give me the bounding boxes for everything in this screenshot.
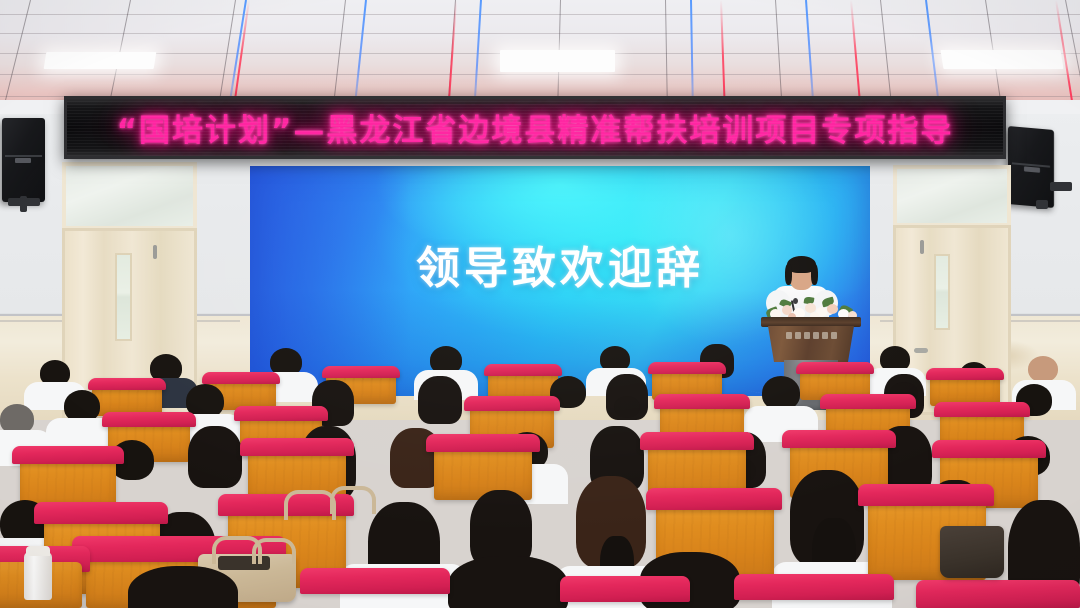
handbag — [940, 526, 1004, 578]
bag-handle — [284, 490, 336, 520]
led-banner-text: “国培计划”—黑龙江省边境县精准帮扶培训项目专项指导 — [117, 105, 954, 150]
seat-cushion — [202, 372, 280, 384]
ceiling-light-panel — [500, 50, 615, 72]
seat-cushion — [484, 364, 562, 376]
seat-cushion — [648, 362, 726, 374]
presenter-hair — [785, 264, 792, 285]
seat-cushion — [234, 406, 328, 421]
bag-handle — [252, 538, 296, 564]
door-right-transom — [893, 165, 1011, 227]
seat-cushion — [426, 434, 540, 452]
door-left-transom — [62, 162, 197, 230]
thermos-cap — [26, 546, 50, 556]
seat-cushion — [782, 430, 896, 448]
door-left-glass-panel — [115, 253, 132, 341]
seat-cushion — [240, 438, 354, 456]
seat-cushion — [796, 362, 874, 374]
wall-speaker-left — [2, 118, 45, 202]
door-left-handle[interactable] — [153, 245, 157, 259]
attendee-head — [1028, 356, 1058, 382]
seat-back — [434, 444, 532, 500]
seat-cushion — [322, 366, 400, 378]
presenter-hair — [811, 264, 818, 285]
seat-cushion — [88, 378, 166, 390]
ceiling-light-panel — [44, 52, 157, 69]
wall-speaker-right — [1008, 126, 1054, 208]
attendee-head-foreground — [448, 556, 568, 608]
audience-seating-area — [0, 340, 1080, 608]
seat-cushion — [820, 394, 916, 409]
seat-cushion — [464, 396, 560, 411]
seat-cushion-foreground — [300, 568, 450, 594]
seat-cushion-foreground — [916, 580, 1080, 608]
bag-handle — [330, 486, 376, 514]
door-right-glass-panel — [934, 254, 950, 330]
seat-cushion-foreground — [560, 576, 690, 602]
podium-emblem — [779, 330, 843, 340]
slide-title: 领导致欢迎辞 — [250, 232, 870, 296]
led-scrolling-banner: “国培计划”—黑龙江省边境县精准帮扶培训项目专项指导 — [64, 96, 1006, 159]
attendee-head — [418, 376, 462, 424]
seat-cushion — [646, 488, 782, 510]
ceiling-light-panel — [940, 50, 1063, 69]
attendee-head — [762, 376, 800, 410]
seat-cushion — [926, 368, 1004, 380]
seat-cushion — [858, 484, 994, 506]
thermos-cup — [24, 552, 52, 600]
podium-top-ledge — [761, 317, 861, 327]
speaker-bracket-right — [1050, 182, 1072, 191]
seat-cushion — [654, 394, 750, 409]
attendee-head — [188, 426, 242, 488]
door-right-handle[interactable] — [920, 240, 924, 254]
seat-cushion — [932, 440, 1046, 458]
speaker-bracket-right — [1036, 200, 1048, 209]
seat-cushion — [12, 446, 124, 464]
seat-cushion — [934, 402, 1030, 417]
seat-cushion-foreground — [734, 574, 894, 600]
seat-cushion — [102, 412, 196, 427]
attendee-head-foreground — [128, 566, 238, 608]
seat-cushion — [34, 502, 168, 524]
seat-cushion — [640, 432, 754, 450]
attendee-hair-bun — [614, 396, 640, 418]
speaker-bracket-left — [20, 196, 27, 212]
conference-hall-photo: 领导致欢迎辞 — [0, 0, 1080, 608]
